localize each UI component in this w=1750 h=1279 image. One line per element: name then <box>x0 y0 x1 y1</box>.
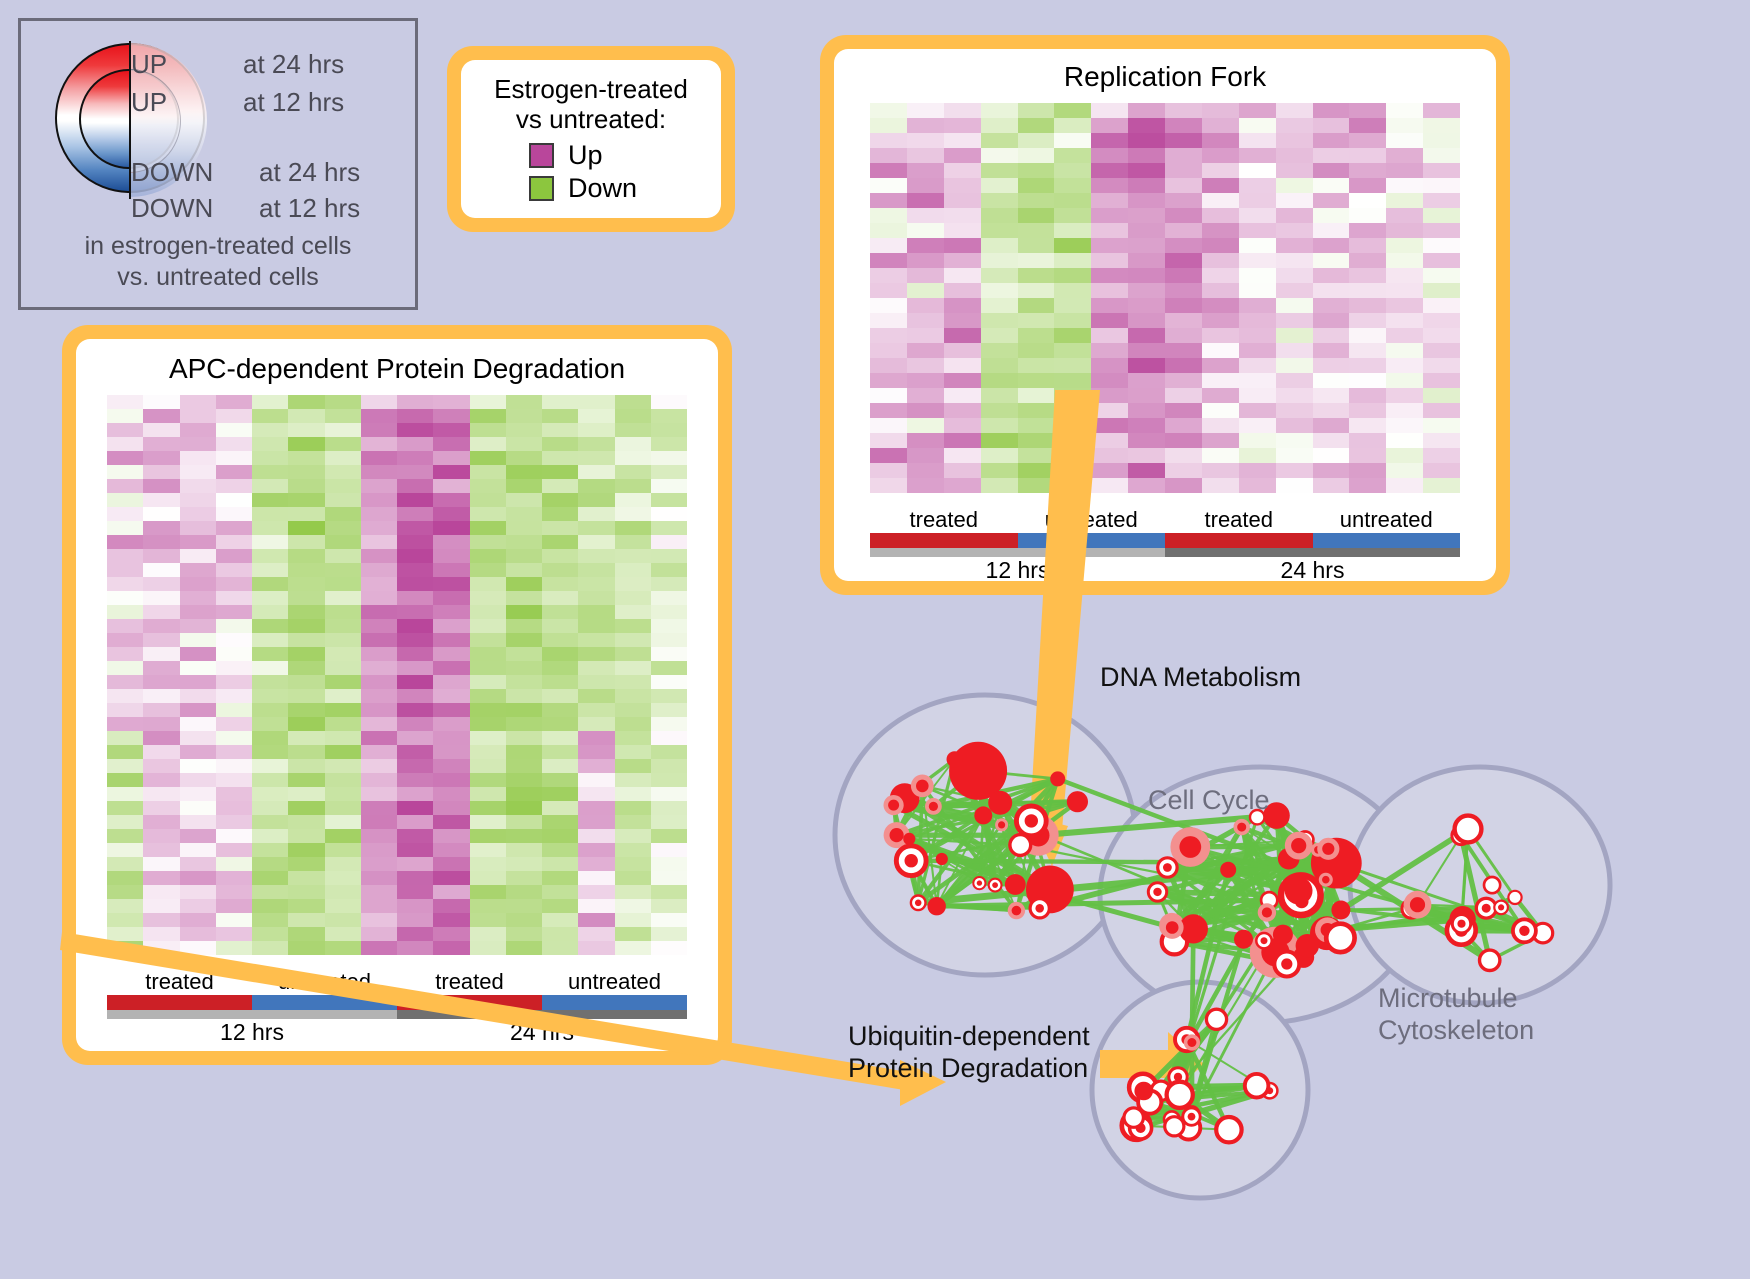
group-bar <box>107 995 252 1010</box>
group-bar <box>870 533 1018 548</box>
network-node[interactable] <box>1050 771 1065 786</box>
network-node[interactable] <box>1124 1108 1143 1127</box>
cluster-label-cell-cycle: Cell Cycle <box>1148 785 1270 816</box>
network-node[interactable] <box>1234 930 1253 949</box>
time-label: 24 hrs <box>1165 557 1460 584</box>
network-node[interactable] <box>1167 1082 1193 1108</box>
network-node-core <box>905 854 918 867</box>
legend-item-down: Down <box>529 173 711 204</box>
network-node[interactable] <box>1480 950 1500 970</box>
wheel-time-down-12: at 24 hrs <box>259 157 360 188</box>
wheel-label-up-24: UP <box>131 49 167 80</box>
network-node-core <box>1281 958 1292 969</box>
network-node[interactable] <box>1005 874 1026 895</box>
network-node-core <box>1163 863 1172 872</box>
replication-fork-time-bars <box>870 548 1460 557</box>
network-node-core <box>916 780 929 793</box>
time-bar <box>107 1010 397 1019</box>
network-node[interactable] <box>1134 1082 1153 1101</box>
group-label: untreated <box>542 969 687 995</box>
legend-title-line-2: vs untreated: <box>471 104 711 134</box>
network-node-core <box>1457 920 1465 928</box>
down-color-swatch <box>529 176 554 201</box>
network-node-core <box>1187 1038 1196 1047</box>
network-node[interactable] <box>1455 816 1482 843</box>
network-node-core <box>998 821 1005 828</box>
legend-label-up: Up <box>568 140 603 171</box>
network-node[interactable] <box>1220 862 1236 878</box>
time-bar <box>870 548 1165 557</box>
network-svg <box>800 620 1750 1279</box>
replication-fork-group-labels: treateduntreatedtreateduntreated <box>870 507 1460 533</box>
network-node-core <box>977 880 982 885</box>
network-node[interactable] <box>1206 1009 1226 1029</box>
replication-fork-time-labels: 12 hrs24 hrs <box>870 557 1460 584</box>
network-node-core <box>1498 904 1504 910</box>
group-label: untreated <box>1313 507 1461 533</box>
microtubule-line-1: Microtubule <box>1378 982 1534 1014</box>
network-node-core <box>1519 926 1529 936</box>
group-bar <box>1313 533 1461 548</box>
network-node-core <box>1262 907 1272 917</box>
network-node[interactable] <box>1296 934 1319 957</box>
ubiquitin-line-2: Protein Degradation <box>848 1052 1090 1084</box>
ubiquitin-line-1: Ubiquitin-dependent <box>848 1020 1090 1052</box>
network-node[interactable] <box>1331 901 1350 920</box>
group-label: treated <box>1165 507 1313 533</box>
replication-fork-heatmap <box>870 103 1460 493</box>
legend-item-up: Up <box>529 140 711 171</box>
wheel-time-down-24: at 12 hrs <box>259 193 360 224</box>
caption-line-2: vs. untreated cells <box>21 262 415 293</box>
group-bar <box>542 995 687 1010</box>
network-node-core <box>1166 921 1179 934</box>
panel-replication-fork: Replication Fork treateduntreatedtreated… <box>820 35 1510 595</box>
network-node-core <box>1322 843 1334 855</box>
network-node-core <box>992 882 998 888</box>
cluster-label-dna-metabolism: DNA Metabolism <box>1100 662 1301 693</box>
apc-title: APC-dependent Protein Degradation <box>76 339 718 385</box>
network-node[interactable] <box>1245 1074 1269 1098</box>
legend-label-down: Down <box>568 173 637 204</box>
network-node[interactable] <box>1216 1117 1241 1142</box>
network-node-core <box>890 828 904 842</box>
wheel-label-down-12: DOWN <box>131 157 213 188</box>
network-node[interactable] <box>1273 925 1293 945</box>
group-bar <box>1018 533 1166 548</box>
network-node[interactable] <box>1326 924 1354 952</box>
wheel-label-down-24: DOWN <box>131 193 213 224</box>
up-color-swatch <box>529 143 554 168</box>
network-node-core <box>1291 838 1306 853</box>
network-node-core <box>1012 906 1022 916</box>
network-node-core <box>929 802 938 811</box>
network-node[interactable] <box>1285 877 1313 905</box>
cluster-label-microtubule: Microtubule Cytoskeleton <box>1378 982 1534 1047</box>
network-node-core <box>1410 897 1425 912</box>
colorwheel-caption: in estrogen-treated cells vs. untreated … <box>21 231 415 292</box>
network-node-core <box>1261 937 1268 944</box>
network-node-core <box>1179 836 1201 858</box>
time-bar <box>1165 548 1460 557</box>
wheel-time-up-12: at 12 hrs <box>243 87 344 118</box>
network-node[interactable] <box>1484 877 1500 893</box>
apc-heatmap <box>107 395 687 955</box>
wheel-time-up-24: at 24 hrs <box>243 49 344 80</box>
network-node[interactable] <box>936 853 948 865</box>
network-node[interactable] <box>947 751 963 767</box>
network-node[interactable] <box>903 833 915 845</box>
network-node[interactable] <box>1508 891 1521 904</box>
group-bar <box>1165 533 1313 548</box>
network-node-core <box>1035 904 1044 913</box>
updown-legend-title: Estrogen-treated vs untreated: <box>471 74 711 134</box>
network-node-core <box>1188 1113 1196 1121</box>
updown-legend-card: Estrogen-treated vs untreated: Up Down <box>447 46 735 232</box>
group-label: untreated <box>1018 507 1166 533</box>
network-node-core <box>1237 823 1246 832</box>
network-node-core <box>1153 888 1161 896</box>
network-node-core <box>915 900 922 907</box>
time-label: 12 hrs <box>107 1019 397 1046</box>
apc-time-bars <box>107 1010 687 1019</box>
replication-fork-group-bars <box>870 533 1460 548</box>
network-node[interactable] <box>988 791 1012 815</box>
network-node[interactable] <box>974 806 992 824</box>
network-node[interactable] <box>928 897 946 915</box>
network-node[interactable] <box>1165 1117 1184 1136</box>
network-node-core <box>888 800 899 811</box>
cluster-label-ubiquitin: Ubiquitin-dependent Protein Degradation <box>848 1020 1090 1085</box>
network-node[interactable] <box>1010 835 1031 856</box>
group-label: treated <box>870 507 1018 533</box>
replication-fork-title: Replication Fork <box>834 49 1496 93</box>
pathway-network: DNA Metabolism Cell Cycle Microtubule Cy… <box>800 620 1750 1279</box>
wheel-label-up-12: UP <box>131 87 167 118</box>
figure-canvas: UP at 24 hrs UP at 12 hrs DOWN at 24 hrs… <box>0 0 1750 1279</box>
network-node[interactable] <box>1067 791 1088 812</box>
cluster-microtubule <box>1350 767 1610 1003</box>
caption-line-1: in estrogen-treated cells <box>21 231 415 262</box>
network-node-core <box>1322 876 1330 884</box>
legend-title-line-1: Estrogen-treated <box>471 74 711 104</box>
microtubule-line-2: Cytoskeleton <box>1378 1014 1534 1046</box>
network-node-core <box>1482 904 1491 913</box>
network-node-core <box>1025 814 1038 827</box>
time-label: 12 hrs <box>870 557 1165 584</box>
colorwheel-legend: UP at 24 hrs UP at 12 hrs DOWN at 24 hrs… <box>18 18 418 310</box>
